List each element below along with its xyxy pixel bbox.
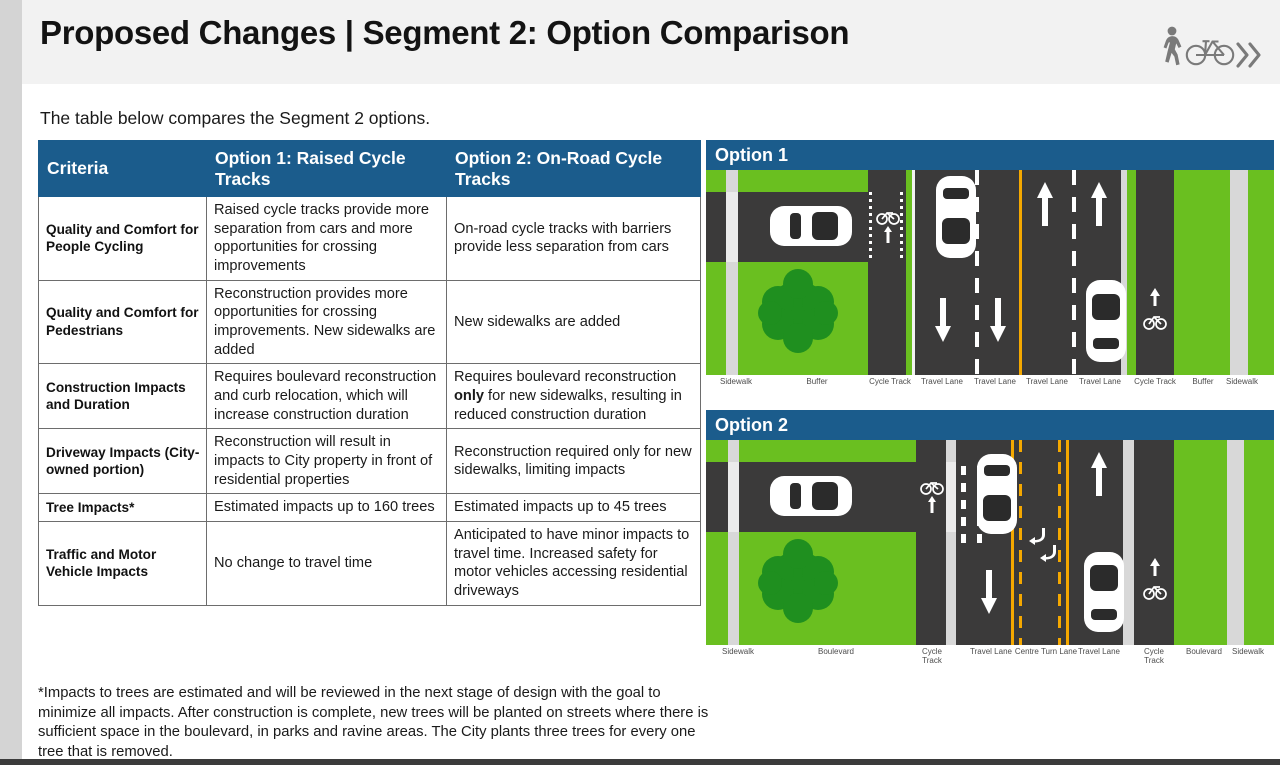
band-grass-right [1248, 170, 1274, 375]
table-row: Traffic and Motor Vehicle Impacts No cha… [39, 522, 701, 606]
slide-root: Proposed Changes | Segment 2: Option Com… [0, 0, 1280, 765]
bike-symbol-left [920, 480, 944, 520]
table-header-row: Criteria Option 1: Raised Cycle Tracks O… [39, 141, 701, 197]
pedestrian-icon [1164, 27, 1182, 66]
option1-diagram-panel: Option 1 [706, 140, 1274, 401]
band-cycle-track-right [1134, 440, 1174, 645]
row-option1: Requires boulevard reconstruction and cu… [207, 364, 447, 429]
label-travel-lane-2: Travel Lane [1078, 647, 1120, 656]
band-sidewalk-right [1227, 440, 1244, 645]
label-sidewalk-right: Sidewalk [1232, 647, 1264, 656]
band-grass-right [1244, 440, 1274, 645]
comparison-table: Criteria Option 1: Raised Cycle Tracks O… [38, 140, 701, 606]
label-cycle-track-left: Cycle Track [869, 377, 911, 386]
bike-symbol-left [876, 210, 900, 250]
table-row: Quality and Comfort for Pedestrians Reco… [39, 280, 701, 364]
edge-line-left [912, 170, 915, 375]
label-cycle-track-right: Cycle Track [1134, 377, 1176, 386]
label-sidewalk-right: Sidewalk [1226, 377, 1258, 386]
car-southbound [928, 174, 984, 260]
bike-symbol-right [1143, 288, 1167, 336]
car-northbound [1078, 550, 1130, 634]
row-criteria: Tree Impacts* [39, 494, 207, 522]
bicycle-icon [1187, 41, 1233, 64]
band-cycle-track-right [1136, 170, 1174, 375]
arrow-up-1 [1091, 452, 1107, 496]
car-on-driveway [768, 198, 854, 254]
page-title: Proposed Changes | Segment 2: Option Com… [40, 14, 849, 52]
option2-diagram-panel: Option 2 [706, 410, 1274, 671]
row-option1: No change to travel time [207, 522, 447, 606]
centre-line-yellow [1019, 170, 1022, 375]
row-option2: Estimated impacts up to 45 trees [447, 494, 701, 522]
car-on-driveway [768, 468, 854, 524]
row-criteria: Quality and Comfort for Pedestrians [39, 280, 207, 364]
option2-banner: Option 2 [706, 410, 1274, 440]
label-buffer-right: Buffer [1192, 377, 1213, 386]
option2-cross-section-labels: Sidewalk Boulevard Cycle Track Travel La… [706, 645, 1274, 671]
band-boulevard-right [1174, 440, 1227, 645]
row-option2: On-road cycle tracks with barriers provi… [447, 197, 701, 281]
row-option2: New sidewalks are added [447, 280, 701, 364]
lane-dash-line-2 [1072, 170, 1076, 375]
row-criteria: Construction Impacts and Duration [39, 364, 207, 429]
cycle-track-crossing-left-edge [869, 192, 872, 262]
row-option2-pre: Requires boulevard reconstruction [454, 369, 676, 385]
option1-cross-section-labels: Sidewalk Buffer Cycle Track Travel Lane … [706, 375, 1274, 401]
option1-cross-section [706, 170, 1274, 375]
bike-symbol-right [1143, 558, 1167, 606]
crosswalk-marking [728, 462, 739, 532]
turn-lane-edge-right [1066, 440, 1069, 645]
column-header-criteria: Criteria [39, 141, 207, 197]
option2-cross-section [706, 440, 1274, 645]
band-buffer-right [1174, 170, 1230, 375]
cycle-track-crossing-right-edge [900, 192, 903, 262]
left-margin-rail [0, 84, 22, 759]
comparison-table-wrap: Criteria Option 1: Raised Cycle Tracks O… [38, 140, 700, 606]
table-row: Construction Impacts and Duration Requir… [39, 364, 701, 429]
crosswalk-marking [726, 192, 738, 262]
label-cycle-track-left: Cycle Track [922, 647, 942, 665]
title-bar: Proposed Changes | Segment 2: Option Com… [0, 0, 1280, 84]
label-sidewalk-left: Sidewalk [722, 647, 754, 656]
label-centre-turn-lane: Centre Turn Lane [1015, 647, 1077, 656]
row-option2-emphasis: only [454, 388, 484, 404]
turn-arrow-2 [1039, 543, 1059, 563]
row-option1: Reconstruction provides more opportuniti… [207, 280, 447, 364]
label-cycle-track-right: Cycle Track [1144, 647, 1164, 665]
label-travel-lane-2: Travel Lane [974, 377, 1016, 386]
label-boulevard-left: Boulevard [818, 647, 854, 656]
row-criteria: Driveway Impacts (City-owned portion) [39, 429, 207, 494]
row-criteria: Traffic and Motor Vehicle Impacts [39, 522, 207, 606]
row-option1: Raised cycle tracks provide more separat… [207, 197, 447, 281]
option1-banner: Option 1 [706, 140, 1274, 170]
row-option2: Requires boulevard reconstruction only f… [447, 364, 701, 429]
left-accent-strip [0, 0, 22, 84]
arrow-down-2 [990, 298, 1006, 342]
boulevard-tree [758, 268, 838, 354]
row-option2-post: for new sidewalks, resulting in reduced … [454, 388, 682, 423]
double-chevron-icon [1238, 44, 1259, 66]
boulevard-tree [758, 538, 838, 624]
brand-mark [1158, 24, 1268, 68]
row-criteria: Quality and Comfort for People Cycling [39, 197, 207, 281]
row-option1: Reconstruction will result in impacts to… [207, 429, 447, 494]
arrow-up-2 [1091, 182, 1107, 226]
arrow-down-1 [935, 298, 951, 342]
cycle-track-buffer-crossing [946, 462, 956, 532]
car-southbound [971, 452, 1023, 536]
label-buffer-left: Buffer [806, 377, 827, 386]
row-option2: Reconstruction required only for new sid… [447, 429, 701, 494]
label-sidewalk-left: Sidewalk [720, 377, 752, 386]
arrow-up-1 [1037, 182, 1053, 226]
car-northbound [1078, 278, 1134, 364]
footnote-text: *Impacts to trees are estimated and will… [38, 684, 710, 762]
arrow-down-1 [981, 570, 997, 614]
row-option2: Anticipated to have minor impacts to tra… [447, 522, 701, 606]
label-boulevard-right: Boulevard [1186, 647, 1222, 656]
label-travel-lane-1: Travel Lane [970, 647, 1012, 656]
column-header-option1: Option 1: Raised Cycle Tracks [207, 141, 447, 197]
label-travel-lane-1: Travel Lane [921, 377, 963, 386]
label-travel-lane-3: Travel Lane [1026, 377, 1068, 386]
table-row: Tree Impacts* Estimated impacts up to 16… [39, 494, 701, 522]
intro-text: The table below compares the Segment 2 o… [40, 108, 430, 129]
table-row: Driveway Impacts (City-owned portion) Re… [39, 429, 701, 494]
label-travel-lane-4: Travel Lane [1079, 377, 1121, 386]
band-sidewalk-right [1230, 170, 1248, 375]
cycle-crossing-dash-left [961, 466, 966, 546]
row-option1: Estimated impacts up to 160 trees [207, 494, 447, 522]
table-row: Quality and Comfort for People Cycling R… [39, 197, 701, 281]
column-header-option2: Option 2: On-Road Cycle Tracks [447, 141, 701, 197]
